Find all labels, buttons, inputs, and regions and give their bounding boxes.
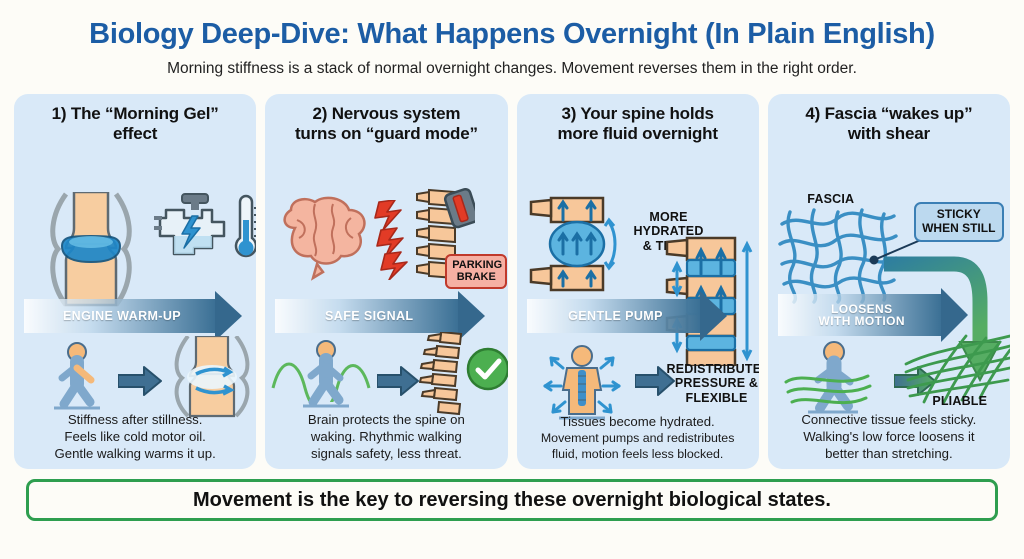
- panel-1-title: 1) The “Morning Gel” effect: [14, 94, 256, 144]
- panel-spine-fluid: 3) Your spine holds more fluid overnight: [517, 94, 759, 469]
- panel-1-band-label: ENGINE WARM-UP: [24, 310, 242, 323]
- knee-joint-stiff-icon: [36, 192, 146, 307]
- panel-3-band-label: GENTLE PUMP: [527, 310, 727, 323]
- page-title: Biology Deep-Dive: What Happens Overnigh…: [14, 0, 1010, 51]
- walking-person-icon: [293, 340, 363, 414]
- panel-1-caption-line2: Feels like cold motor oil.: [18, 429, 252, 446]
- panel-4-caption-line2: Walking's low force loosens it: [772, 429, 1006, 446]
- panel-3-caption-line1: Tissues become hydrated.: [521, 414, 755, 431]
- loosens-band: LOOSENSWITH MOTION: [778, 294, 968, 336]
- parking-brake-line1: PARKING BRAKE: [452, 259, 500, 284]
- safe-signal-band: SAFE SIGNAL: [275, 299, 485, 333]
- footer-banner: Movement is the key to reversing these o…: [26, 479, 998, 521]
- panel-guard-mode: 2) Nervous system turns on “guard mode”: [265, 94, 507, 469]
- infographic-page: Biology Deep-Dive: What Happens Overnigh…: [0, 0, 1024, 559]
- panel-3-caption-line3: fluid, motion feels less blocked.: [521, 447, 755, 463]
- arrow-right-icon: [377, 366, 419, 396]
- engine-block-icon: [154, 192, 234, 262]
- walking-person-icon: [44, 342, 114, 414]
- panel-2-title-line2: turns on “guard mode”: [273, 124, 499, 144]
- page-subtitle: Morning stiffness is a stack of normal o…: [14, 51, 1010, 78]
- panel-morning-gel: 1) The “Morning Gel” effect: [14, 94, 256, 469]
- panel-1-caption-line1: Stiffness after stillness.: [18, 412, 252, 429]
- engine-warmup-band: ENGINE WARM-UP: [24, 299, 242, 333]
- panel-4-art: FASCIA: [768, 144, 1010, 414]
- panel-2-caption-line1: Brain protects the spine on: [269, 412, 503, 429]
- panel-4-caption-line3: better than stretching.: [772, 446, 1006, 463]
- pliable-label: PLIABLE: [918, 394, 1002, 408]
- gentle-pump-band: GENTLE PUMP: [527, 299, 727, 333]
- brain-icon: [277, 194, 377, 284]
- body-pressure-icon: [527, 344, 637, 424]
- panel-1-caption: Stiffness after stillness. Feels like co…: [18, 412, 252, 463]
- panel-4-caption: Connective tissue feels sticky. Walking'…: [772, 412, 1006, 463]
- knee-joint-warm-icon: [166, 336, 256, 418]
- panel-2-caption: Brain protects the spine on waking. Rhyt…: [269, 412, 503, 463]
- fascia-label: FASCIA: [786, 192, 876, 206]
- panel-3-caption: Tissues become hydrated. Movement pumps …: [521, 414, 755, 463]
- vertebra-swollen-icon: [529, 196, 619, 292]
- panel-2-art: PARKING BRAKE SAFE SIGNAL: [265, 144, 507, 414]
- panel-1-caption-line3: Gentle walking warms it up.: [18, 446, 252, 463]
- panel-3-title: 3) Your spine holds more fluid overnight: [517, 94, 759, 144]
- panel-2-band-label: SAFE SIGNAL: [275, 310, 485, 323]
- panel-2-caption-line3: signals safety, less threat.: [269, 446, 503, 463]
- check-circle-icon: [465, 346, 507, 392]
- panel-3-title-line2: more fluid overnight: [525, 124, 751, 144]
- spine-relaxed-icon: [419, 332, 471, 416]
- panel-3-title-line1: 3) Your spine holds: [525, 104, 751, 124]
- panel-4-title-line2: with shear: [776, 124, 1002, 144]
- panel-4-caption-line1: Connective tissue feels sticky.: [772, 412, 1006, 429]
- panel-4-band-label: LOOSENSWITH MOTION: [778, 303, 968, 328]
- arrow-right-icon: [118, 366, 162, 396]
- panel-1-title-line2: effect: [22, 124, 248, 144]
- panel-row: 1) The “Morning Gel” effect: [14, 94, 1010, 469]
- panel-4-title: 4) Fascia “wakes up” with shear: [768, 94, 1010, 144]
- panel-1-title-line1: 1) The “Morning Gel”: [22, 104, 248, 124]
- panel-2-caption-line2: waking. Rhythmic walking: [269, 429, 503, 446]
- footer-text: Movement is the key to reversing these o…: [193, 489, 831, 512]
- sticky-when-still-callout: STICKYWHEN STILL: [914, 202, 1004, 242]
- walking-person-icon: [782, 340, 902, 420]
- panel-fascia: 4) Fascia “wakes up” with shear FASCIA: [768, 94, 1010, 469]
- panel-1-art: ENGINE WARM-UP: [14, 144, 256, 414]
- panel-3-caption-line2: Movement pumps and redistributes: [521, 431, 755, 447]
- panel-2-title-line1: 2) Nervous system: [273, 104, 499, 124]
- redistributed-tag: REDISTRIBUTEDPRESSURE &FLEXIBLE: [667, 362, 759, 405]
- panel-2-title: 2) Nervous system turns on “guard mode”: [265, 94, 507, 144]
- parking-brake-badge: PARKING BRAKE: [445, 254, 507, 289]
- panel-3-art: MOREHYDRATED& TIGHT: [517, 144, 759, 414]
- thermometer-icon: [230, 194, 256, 264]
- panel-4-title-line1: 4) Fascia “wakes up”: [776, 104, 1002, 124]
